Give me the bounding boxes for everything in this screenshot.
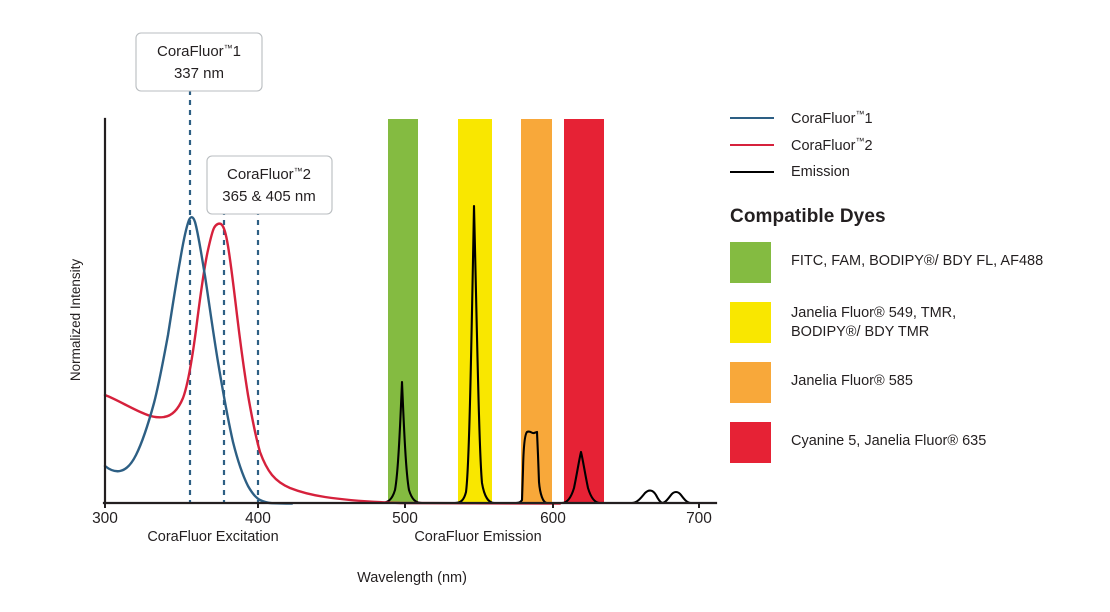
- legend-line-corafluor1: [730, 117, 774, 119]
- dye-swatch-cyanine5: [730, 422, 771, 463]
- band-cyanine5: [564, 119, 604, 503]
- compatible-dyes-list: FITC, FAM, BODIPY®/ BDY FL, AF488 Janeli…: [730, 242, 1100, 463]
- legend-label-corafluor2: CoraFluor™2: [791, 136, 873, 154]
- callout-corafluor1-line2: 337 nm: [174, 65, 224, 82]
- x-axis-ticks: 300 400 500 600 700: [92, 503, 712, 527]
- legend-item-corafluor1[interactable]: CoraFluor™1: [730, 104, 1100, 131]
- x-tick-label-400: 400: [245, 510, 271, 527]
- legend-item-corafluor2[interactable]: CoraFluor™2: [730, 131, 1100, 158]
- legend-item-emission[interactable]: Emission: [730, 158, 1100, 185]
- dye-label-cyanine5: Cyanine 5, Janelia Fluor® 635: [791, 422, 986, 451]
- y-axis-title: Normalized Intensity: [68, 259, 83, 382]
- callout-corafluor1-box: [136, 33, 262, 91]
- x-tick-label-700: 700: [686, 510, 712, 527]
- dye-label-fitc: FITC, FAM, BODIPY®/ BDY FL, AF488: [791, 242, 1043, 271]
- legend-label-emission: Emission: [791, 164, 850, 180]
- emission-range-label: CoraFluor Emission: [414, 529, 541, 545]
- excitation-range-label: CoraFluor Excitation: [147, 529, 278, 545]
- band-janelia549: [458, 119, 492, 503]
- legend-line-corafluor2: [730, 144, 774, 146]
- x-tick-label-600: 600: [540, 510, 566, 527]
- dye-row-janelia585[interactable]: Janelia Fluor® 585: [730, 362, 1100, 403]
- dye-row-janelia549[interactable]: Janelia Fluor® 549, TMR,BODIPY®/ BDY TMR: [730, 302, 1100, 343]
- dye-swatch-janelia549: [730, 302, 771, 343]
- compatible-dyes-title: Compatible Dyes: [730, 206, 1100, 228]
- callout-corafluor2-box: [207, 156, 332, 214]
- dye-row-cyanine5[interactable]: Cyanine 5, Janelia Fluor® 635: [730, 422, 1100, 463]
- dye-swatch-fitc: [730, 242, 771, 283]
- callout-corafluor2-line2: 365 & 405 nm: [222, 188, 315, 205]
- dye-swatch-janelia585: [730, 362, 771, 403]
- legend-label-corafluor1: CoraFluor™1: [791, 109, 873, 127]
- callout-corafluor1: CoraFluor™1 337 nm: [136, 33, 262, 91]
- band-janelia585: [521, 119, 552, 503]
- legend-panel: CoraFluor™1 CoraFluor™2 Emission Compati…: [730, 104, 1100, 482]
- callout-corafluor2: CoraFluor™2 365 & 405 nm: [207, 156, 332, 214]
- dye-bands: [388, 119, 604, 503]
- figure-root: 300 400 500 600 700 CoraFluor Excitation…: [0, 0, 1110, 612]
- band-fitc: [388, 119, 418, 503]
- dye-row-fitc[interactable]: FITC, FAM, BODIPY®/ BDY FL, AF488: [730, 242, 1100, 283]
- x-axis-title: Wavelength (nm): [357, 570, 467, 586]
- x-tick-label-300: 300: [92, 510, 118, 527]
- x-tick-label-500: 500: [392, 510, 418, 527]
- series-legend: CoraFluor™1 CoraFluor™2 Emission: [730, 104, 1100, 185]
- legend-line-emission: [730, 171, 774, 173]
- dye-label-janelia549: Janelia Fluor® 549, TMR,BODIPY®/ BDY TMR: [791, 302, 956, 342]
- dye-label-janelia585: Janelia Fluor® 585: [791, 362, 913, 391]
